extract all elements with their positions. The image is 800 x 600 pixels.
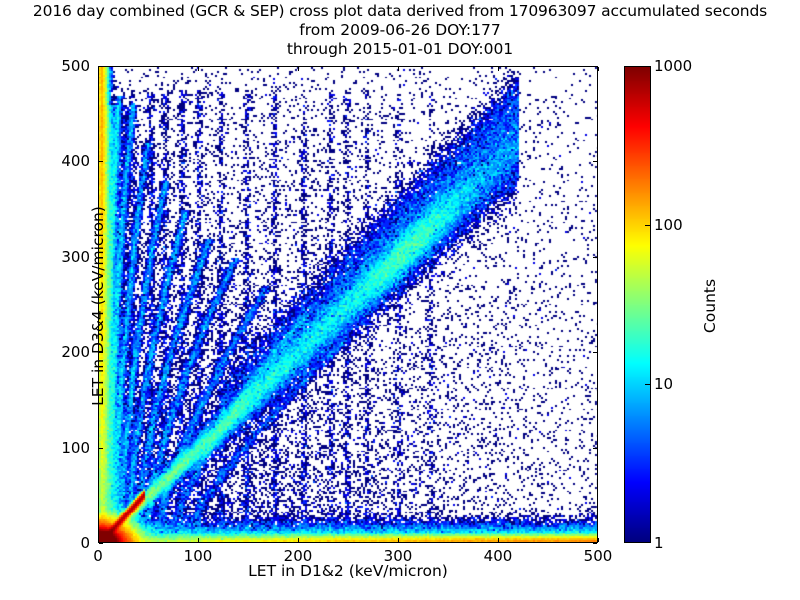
colorbar-ticklabel-100: 100 [654, 216, 683, 234]
y-tick-right-300 [593, 257, 597, 258]
x-tick-top-400 [498, 67, 499, 71]
x-tick-top-500 [598, 67, 599, 71]
y-ticklabel-400: 400 [30, 152, 90, 170]
colorbar-ticklabel-10: 10 [654, 375, 673, 393]
colorbar-tick-100 [645, 225, 650, 226]
y-tick-right-400 [593, 161, 597, 162]
y-ticklabel-0: 0 [30, 534, 90, 552]
y-tick-right-0 [593, 543, 597, 544]
figure-canvas: 2016 day combined (GCR & SEP) cross plot… [0, 0, 800, 600]
x-tick-300 [398, 538, 399, 542]
x-tick-400 [498, 538, 499, 542]
x-axis-label: LET in D1&2 (keV/micron) [98, 562, 598, 580]
x-tick-100 [198, 538, 199, 542]
y-ticklabel-500: 500 [30, 57, 90, 75]
colorbar [624, 66, 651, 543]
y-tick-right-500 [593, 66, 597, 67]
x-tick-top-100 [198, 67, 199, 71]
colorbar-gradient [625, 67, 650, 542]
title-line-2: from 2009-06-26 DOY:177 [0, 21, 800, 40]
x-tick-top-300 [398, 67, 399, 71]
y-tick-right-200 [593, 352, 597, 353]
title-line-1: 2016 day combined (GCR & SEP) cross plot… [0, 2, 800, 21]
y-axis-label: LET in D3&4 (keV/micron) [89, 66, 107, 546]
colorbar-label: Counts [701, 186, 719, 426]
x-tick-top-200 [298, 67, 299, 71]
let-cross-plot-heatmap [99, 67, 598, 543]
colorbar-ticklabel-1: 1 [654, 534, 664, 552]
plot-axes-area [98, 66, 598, 543]
x-tick-500 [598, 538, 599, 542]
x-tick-200 [298, 538, 299, 542]
plot-title: 2016 day combined (GCR & SEP) cross plot… [0, 2, 800, 59]
colorbar-ticklabel-1000: 1000 [654, 57, 692, 75]
y-ticklabel-200: 200 [30, 343, 90, 361]
y-ticklabel-100: 100 [30, 439, 90, 457]
y-tick-right-100 [593, 448, 597, 449]
y-ticklabel-300: 300 [30, 248, 90, 266]
colorbar-tick-10 [645, 384, 650, 385]
